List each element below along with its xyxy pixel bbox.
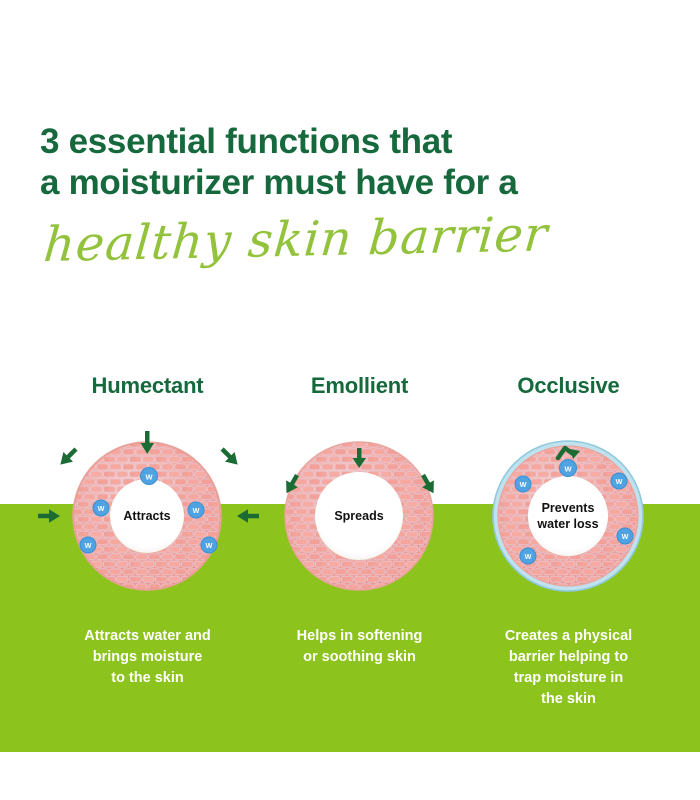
water-dot: W [617,528,633,544]
caption-line: Creates a physical [452,626,685,647]
column-title-humectant: Humectant [31,372,264,402]
caption-line: or soothing skin [243,647,476,668]
caption-line: barrier helping to [452,647,685,668]
water-dot: W [188,502,204,518]
caption-line: Attracts water and [31,626,264,647]
svg-text:W: W [193,506,200,515]
arrow-in-left [38,509,60,523]
column-humectant: Humectant [31,372,264,613]
diagram-emollient: Spreads [243,418,476,613]
column-occlusive: Occlusive [452,372,685,613]
water-dot: W [80,537,96,553]
title-line-2: a moisturizer must have for a [40,162,660,203]
water-dot: W [93,500,109,516]
page-title: 3 essential functions that a moisturizer… [40,121,660,203]
column-emollient: Emollient [243,372,476,613]
water-dot: W [560,460,577,477]
title-script-line: healthy skin barrier [42,205,668,272]
title-line-1: 3 essential functions that [40,121,660,162]
center-label-occlusive-line1: Prevents [542,501,595,515]
center-hole [528,476,608,556]
water-dot: W [515,476,531,492]
arrow-in-upper-left [56,444,81,469]
caption-line: to the skin [31,668,264,689]
arrow-in-upper-right [217,444,242,469]
center-label-occlusive-line2: water loss [536,517,598,531]
svg-text:W: W [85,541,92,550]
svg-text:W: W [145,473,153,482]
infographic-canvas: 3 essential functions that a moisturizer… [0,0,700,800]
svg-text:W: W [564,465,572,474]
water-dot: W [141,468,158,485]
water-dot: W [520,548,536,564]
column-title-occlusive: Occlusive [452,372,685,402]
diagram-occlusive: W W W W W Prevents water loss [452,418,685,613]
caption-occlusive: Creates a physical barrier helping to tr… [452,626,685,710]
center-label-humectant: Attracts [123,509,170,523]
caption-humectant: Attracts water and brings moisture to th… [31,626,264,689]
functions-columns: Humectant [0,372,700,732]
caption-emollient: Helps in softening or soothing skin [243,626,476,668]
water-dot: W [611,473,627,489]
caption-line: Helps in softening [243,626,476,647]
svg-text:W: W [520,480,527,489]
svg-text:W: W [206,541,213,550]
water-dot: W [201,537,217,553]
caption-line: the skin [452,689,685,710]
center-label-emollient: Spreads [334,509,383,523]
caption-line: brings moisture [31,647,264,668]
column-title-emollient: Emollient [243,372,476,402]
svg-text:W: W [525,552,532,561]
diagram-humectant: W W W W W [31,418,264,613]
svg-text:W: W [98,504,105,513]
svg-text:W: W [616,477,623,486]
svg-text:W: W [622,532,629,541]
caption-line: trap moisture in [452,668,685,689]
